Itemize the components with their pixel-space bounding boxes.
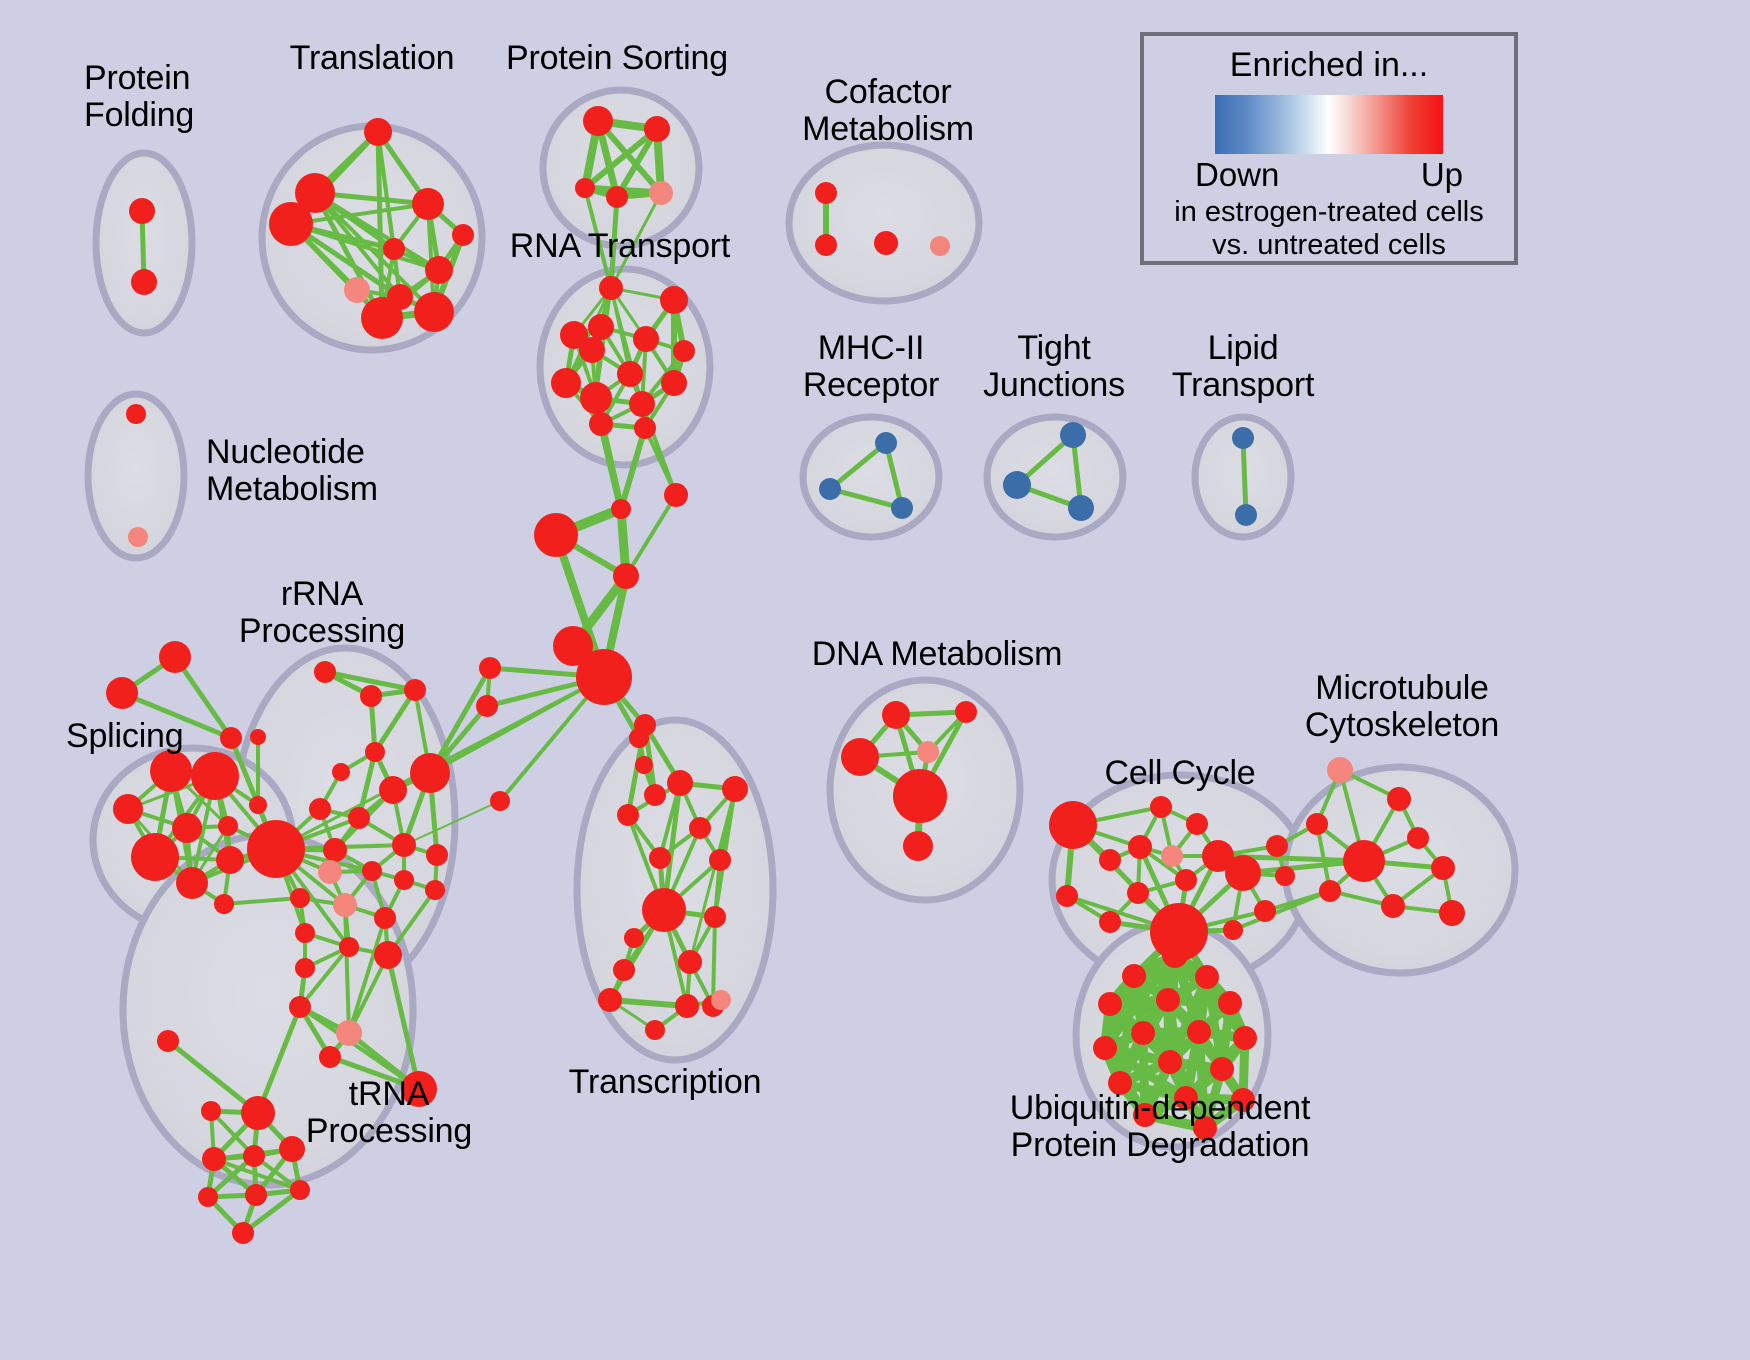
network-node[interactable] [1431, 856, 1455, 880]
network-node[interactable] [1235, 504, 1257, 526]
network-node[interactable] [1195, 965, 1219, 989]
network-node[interactable] [930, 236, 950, 256]
network-node[interactable] [131, 269, 157, 295]
cluster-label-microtubule-cytoskeleton: Microtubule Cytoskeleton [1305, 670, 1499, 743]
network-node[interactable] [893, 769, 947, 823]
network-node[interactable] [295, 958, 315, 978]
network-node[interactable] [874, 231, 898, 255]
network-node[interactable] [1186, 813, 1208, 835]
network-node[interactable] [243, 1145, 265, 1167]
network-node[interactable] [709, 849, 731, 871]
network-node[interactable] [1232, 427, 1254, 449]
network-node[interactable] [220, 727, 242, 749]
network-node[interactable] [1233, 1026, 1257, 1050]
network-node[interactable] [598, 988, 622, 1012]
network-node[interactable] [1439, 900, 1465, 926]
network-node[interactable] [452, 224, 474, 246]
network-node[interactable] [425, 880, 445, 900]
network-node[interactable] [344, 277, 370, 303]
network-node[interactable] [218, 816, 238, 836]
network-node[interactable] [1275, 866, 1295, 886]
network-node[interactable] [339, 937, 359, 957]
network-node[interactable] [841, 738, 879, 776]
cluster-label-tight-junctions: Tight Junctions [983, 330, 1125, 403]
network-node[interactable] [722, 776, 748, 802]
network-node[interactable] [479, 657, 501, 679]
network-node[interactable] [1387, 787, 1411, 811]
network-node[interactable] [314, 661, 336, 683]
network-node[interactable] [476, 695, 498, 717]
legend-high-label: Up [1421, 156, 1463, 194]
network-node[interactable] [624, 928, 644, 948]
network-node[interactable] [667, 770, 693, 796]
network-node[interactable] [1056, 885, 1078, 907]
network-node[interactable] [374, 941, 402, 969]
network-node[interactable] [1327, 757, 1353, 783]
network-node[interactable] [290, 888, 310, 908]
network-node[interactable] [1099, 911, 1121, 933]
network-node[interactable] [660, 286, 688, 314]
network-node[interactable] [1161, 845, 1183, 867]
cluster-label-dna-metabolism: DNA Metabolism [812, 636, 1062, 673]
legend-subtitle: in estrogen-treated cells vs. untreated … [1174, 196, 1484, 261]
cluster-label-ubiquitin-protein-degradation: Ubiquitin-dependent Protein Degradation [1010, 1090, 1311, 1163]
network-node[interactable] [348, 807, 370, 829]
network-node[interactable] [815, 234, 837, 256]
network-node[interactable] [201, 1101, 221, 1121]
network-node[interactable] [576, 649, 632, 705]
network-node[interactable] [290, 1180, 310, 1200]
network-edge [1243, 438, 1246, 515]
network-node[interactable] [412, 188, 444, 220]
network-node[interactable] [1266, 835, 1288, 857]
network-node[interactable] [575, 178, 595, 198]
network-node[interactable] [172, 813, 202, 843]
network-node[interactable] [634, 417, 656, 439]
network-node[interactable] [629, 391, 655, 417]
network-node[interactable] [279, 1136, 305, 1162]
network-node[interactable] [159, 641, 191, 673]
network-node[interactable] [362, 861, 382, 881]
network-node[interactable] [365, 742, 385, 762]
network-node[interactable] [534, 513, 578, 557]
cluster-label-protein-folding: Protein Folding [84, 60, 194, 133]
network-node[interactable] [678, 950, 702, 974]
network-node[interactable] [490, 791, 510, 811]
legend-endpoint-labels: Down Up [1195, 156, 1463, 194]
network-node[interactable] [1162, 942, 1188, 968]
network-node[interactable] [664, 483, 688, 507]
network-node[interactable] [247, 820, 305, 878]
network-node[interactable] [333, 893, 357, 917]
network-node[interactable] [649, 181, 673, 205]
network-node[interactable] [289, 996, 311, 1018]
network-node[interactable] [1060, 422, 1086, 448]
network-node[interactable] [202, 1147, 226, 1171]
network-node[interactable] [1128, 835, 1152, 859]
network-node[interactable] [319, 1046, 341, 1068]
network-node[interactable] [882, 701, 910, 729]
legend-subtitle-line2: vs. untreated cells [1174, 229, 1484, 261]
network-node[interactable] [675, 994, 699, 1018]
network-node[interactable] [1158, 1050, 1182, 1074]
network-node[interactable] [588, 314, 614, 340]
network-node[interactable] [216, 846, 244, 874]
network-node[interactable] [318, 860, 342, 884]
network-node[interactable] [332, 763, 350, 781]
network-node[interactable] [1254, 900, 1276, 922]
network-node[interactable] [1156, 988, 1180, 1012]
network-node[interactable] [1068, 495, 1094, 521]
cluster-ellipse-cofactor-metabolism [789, 145, 979, 301]
network-node[interactable] [245, 1184, 267, 1206]
network-node[interactable] [1131, 1021, 1155, 1045]
network-node[interactable] [634, 714, 656, 736]
network-node[interactable] [131, 833, 179, 881]
network-node[interactable] [891, 497, 913, 519]
network-node[interactable] [704, 906, 726, 928]
network-node[interactable] [295, 923, 315, 943]
cluster-label-translation: Translation [290, 40, 455, 77]
network-node[interactable] [611, 499, 631, 519]
network-node[interactable] [232, 1222, 254, 1244]
network-node[interactable] [1093, 1036, 1117, 1060]
network-node[interactable] [635, 756, 653, 774]
network-node[interactable] [129, 198, 155, 224]
network-node[interactable] [955, 701, 977, 723]
network-node[interactable] [150, 750, 192, 792]
network-node[interactable] [1127, 882, 1149, 904]
network-node[interactable] [1218, 991, 1242, 1015]
network-node[interactable] [613, 563, 639, 589]
network-node[interactable] [241, 1096, 275, 1130]
network-node[interactable] [157, 1030, 179, 1052]
legend-panel: Enriched in... Down Up in estrogen-treat… [1140, 32, 1518, 265]
network-node[interactable] [1381, 894, 1405, 918]
network-node[interactable] [613, 959, 635, 981]
cluster-ellipse-mhc-ii-receptor [803, 417, 939, 537]
cluster-label-mhc-ii-receptor: MHC-II Receptor [803, 330, 939, 403]
legend-title: Enriched in... [1230, 46, 1428, 85]
legend-low-label: Down [1195, 156, 1279, 194]
network-node[interactable] [383, 238, 405, 260]
network-node[interactable] [580, 382, 612, 414]
network-node[interactable] [1343, 840, 1385, 882]
cluster-label-protein-sorting: Protein Sorting [506, 40, 728, 77]
network-node[interactable] [617, 804, 639, 826]
cluster-label-nucleotide-metabolism: Nucleotide Metabolism [206, 434, 378, 507]
network-node[interactable] [128, 527, 148, 547]
cluster-ellipse-protein-sorting [543, 90, 699, 246]
network-node[interactable] [198, 1187, 218, 1207]
network-node[interactable] [673, 340, 695, 362]
network-node[interactable] [649, 847, 671, 869]
network-node[interactable] [617, 361, 643, 387]
cluster-label-lipid-transport: Lipid Transport [1172, 330, 1314, 403]
network-node[interactable] [1319, 880, 1341, 902]
cluster-label-transcription: Transcription [569, 1064, 762, 1101]
network-node[interactable] [250, 729, 266, 745]
network-node[interactable] [249, 796, 267, 814]
network-node[interactable] [589, 412, 613, 436]
network-node[interactable] [689, 817, 711, 839]
network-node[interactable] [1122, 964, 1146, 988]
network-node[interactable] [819, 478, 841, 500]
network-node[interactable] [599, 276, 623, 300]
network-node[interactable] [360, 685, 382, 707]
network-node[interactable] [126, 404, 146, 424]
network-node[interactable] [379, 776, 407, 804]
cluster-label-cofactor-metabolism: Cofactor Metabolism [802, 74, 974, 147]
network-node[interactable] [583, 106, 613, 136]
network-node[interactable] [633, 326, 659, 352]
network-node[interactable] [1003, 471, 1031, 499]
figure-canvas: Protein FoldingTranslationProtein Sortin… [0, 0, 1750, 1360]
network-node[interactable] [392, 833, 416, 857]
network-node[interactable] [214, 894, 234, 914]
network-node[interactable] [414, 292, 454, 332]
network-node[interactable] [644, 116, 670, 142]
network-node[interactable] [309, 798, 331, 820]
network-node[interactable] [425, 256, 453, 284]
network-node[interactable] [323, 838, 347, 862]
network-node[interactable] [645, 1020, 665, 1040]
network-node[interactable] [711, 990, 731, 1010]
network-node[interactable] [404, 679, 426, 701]
legend-color-gradient [1215, 95, 1443, 154]
network-node[interactable] [1407, 827, 1429, 849]
cluster-label-splicing: Splicing [66, 718, 183, 755]
network-node[interactable] [106, 677, 138, 709]
network-node[interactable] [1306, 813, 1328, 835]
network-node[interactable] [642, 888, 686, 932]
network-node[interactable] [374, 907, 396, 929]
network-node[interactable] [1098, 992, 1122, 1016]
network-node[interactable] [1225, 855, 1261, 891]
cluster-label-trna-processing: tRNA Processing [306, 1076, 472, 1149]
network-node[interactable] [1175, 869, 1197, 891]
network-node[interactable] [361, 297, 403, 339]
network-node[interactable] [917, 741, 939, 763]
network-node[interactable] [1223, 920, 1243, 940]
network-node[interactable] [176, 867, 208, 899]
network-node[interactable] [551, 368, 581, 398]
network-node[interactable] [1099, 849, 1121, 871]
network-node[interactable] [644, 784, 666, 806]
cluster-label-cell-cycle: Cell Cycle [1104, 755, 1255, 792]
network-node[interactable] [606, 186, 628, 208]
network-node[interactable] [579, 337, 605, 363]
network-node[interactable] [903, 831, 933, 861]
network-node[interactable] [113, 794, 143, 824]
cluster-label-rna-transport: RNA Transport [510, 228, 730, 265]
legend-subtitle-line1: in estrogen-treated cells [1174, 196, 1484, 228]
network-node[interactable] [364, 118, 392, 146]
network-node[interactable] [1187, 1020, 1211, 1044]
network-node[interactable] [1049, 801, 1097, 849]
network-node[interactable] [426, 844, 448, 866]
network-node[interactable] [1210, 1057, 1234, 1081]
network-node[interactable] [394, 870, 414, 890]
network-node[interactable] [410, 753, 450, 793]
network-node[interactable] [191, 752, 239, 800]
network-node[interactable] [875, 432, 897, 454]
network-node[interactable] [336, 1020, 362, 1046]
cluster-label-rrna-processing: rRNA Processing [239, 576, 405, 649]
network-node[interactable] [661, 370, 687, 396]
network-node[interactable] [815, 182, 837, 204]
network-node[interactable] [269, 202, 313, 246]
network-node[interactable] [1150, 796, 1172, 818]
